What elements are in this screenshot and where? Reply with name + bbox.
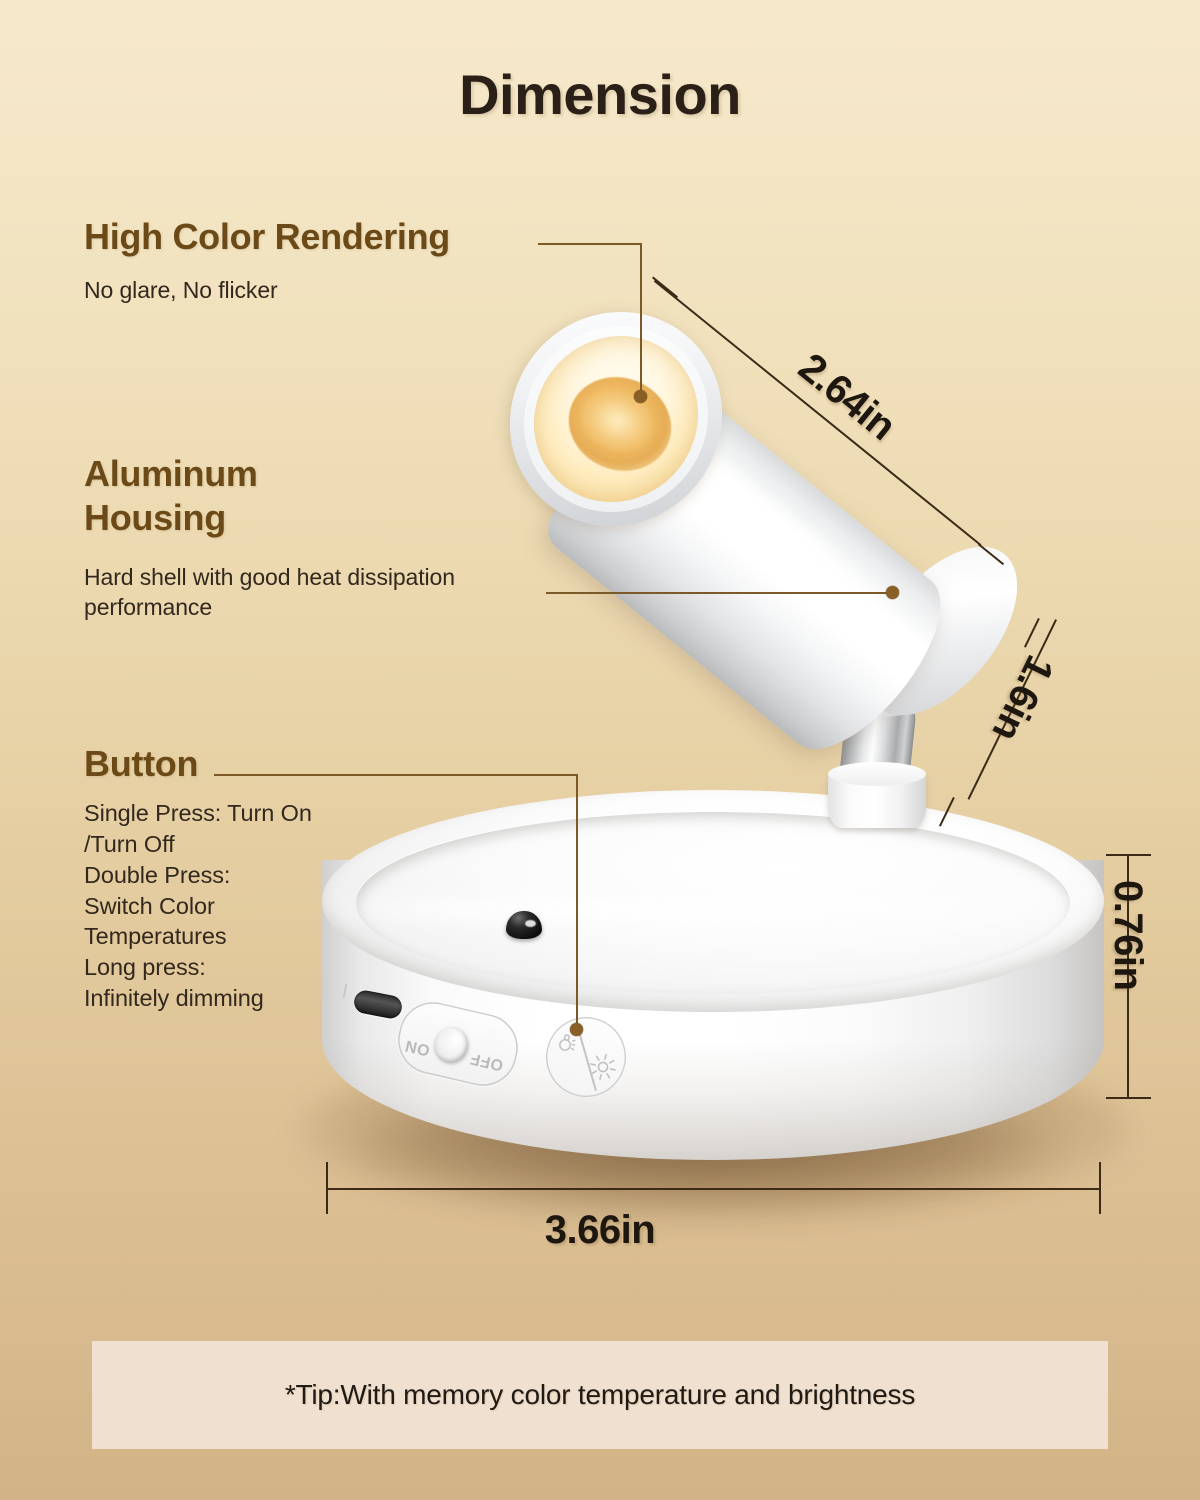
leader-line-high-color-rendering-vertical xyxy=(640,243,642,397)
brightness-sun-icon xyxy=(585,1049,621,1085)
dimension-label-base-width: 3.66in xyxy=(0,1208,1200,1253)
feature-heading-high-color-rendering: High Color Rendering xyxy=(84,215,450,259)
sensor-highlight xyxy=(525,920,536,927)
lamp-front-bezel xyxy=(467,269,766,569)
dimension-label-base-height: 0.76in xyxy=(1105,880,1150,990)
dimension-cap-base-width-right xyxy=(1099,1162,1101,1214)
dimension-cap-base-height-top xyxy=(1106,854,1151,856)
chrome-joint-cap xyxy=(840,686,916,720)
dimension-cap-base-width-left xyxy=(326,1162,328,1214)
lamp-led-module xyxy=(555,362,686,486)
dimension-cap-base-height-bottom xyxy=(1106,1097,1151,1099)
chrome-swivel-joint xyxy=(839,697,917,786)
dimension-line-base-width xyxy=(326,1188,1101,1190)
feature-aluminum-housing: Aluminum Housing Hard shell with good he… xyxy=(84,452,455,623)
stem-collar-top xyxy=(828,762,926,786)
lamp-led-hotspot xyxy=(572,380,662,461)
leader-dot-aluminum-housing xyxy=(886,586,899,599)
infographic-canvas: ON OFF xyxy=(0,0,1200,1500)
feature-line: Single Press: Turn On xyxy=(84,798,312,829)
dimension-cap-length-start xyxy=(652,276,678,298)
leader-dot-button xyxy=(570,1023,583,1036)
feature-line: /Turn Off xyxy=(84,829,312,860)
switch-off-label: OFF xyxy=(468,1048,505,1073)
lamp-base-rim-highlight xyxy=(322,898,1104,922)
feature-button: Button Single Press: Turn On /Turn Off D… xyxy=(84,742,312,1014)
dimension-label-depth: 1.6in xyxy=(983,648,1062,747)
feature-line: performance xyxy=(84,592,455,622)
power-switch-plate[interactable] xyxy=(391,995,524,1092)
lamp-base-bottom-shading xyxy=(322,1040,1104,1160)
leader-dot-high-color-rendering xyxy=(634,390,647,403)
feature-heading-aluminum-housing-line1: Aluminum xyxy=(84,452,455,496)
lamp-base-top-surface xyxy=(322,790,1104,1012)
feature-body-high-color-rendering: No glare, No flicker xyxy=(84,275,450,305)
feature-line: Double Press: xyxy=(84,860,312,891)
feature-line: No glare, No flicker xyxy=(84,275,450,305)
dimension-cap-depth-end xyxy=(939,797,955,827)
dimension-line-length xyxy=(654,280,982,546)
feature-heading-button: Button xyxy=(84,742,312,786)
dimension-cap-depth-start xyxy=(1024,618,1040,648)
leader-line-button-horizontal xyxy=(214,774,578,776)
function-button[interactable] xyxy=(538,1009,635,1106)
lamp-lens-glow xyxy=(514,312,714,524)
usb-c-port-icon xyxy=(352,989,404,1021)
base-drop-shadow xyxy=(300,1040,1130,1220)
feature-high-color-rendering: High Color Rendering No glare, No flicke… xyxy=(84,215,450,305)
tip-text: *Tip:With memory color temperature and b… xyxy=(285,1379,915,1411)
lamp-head-barrel xyxy=(538,369,967,773)
stem-collar xyxy=(828,772,926,828)
lamp-base-body xyxy=(322,860,1104,1160)
dimension-cap-length-end xyxy=(978,543,1004,565)
feature-line: Switch Color xyxy=(84,891,312,922)
lamp-lens xyxy=(500,303,731,536)
usb-port-tick xyxy=(343,984,348,998)
feature-body-button: Single Press: Turn On /Turn Off Double P… xyxy=(84,798,312,1014)
base-contact-shadow xyxy=(350,1085,1050,1205)
dimension-label-length: 2.64in xyxy=(790,345,904,449)
feature-line: Infinitely dimming xyxy=(84,983,312,1014)
feature-line: Temperatures xyxy=(84,921,312,952)
leader-line-aluminum-housing xyxy=(546,592,894,594)
switch-on-label: ON xyxy=(403,1035,431,1058)
lamp-head xyxy=(508,300,1028,720)
leader-line-high-color-rendering-horizontal xyxy=(538,243,642,245)
feature-line: Long press: xyxy=(84,952,312,983)
feature-line: Hard shell with good heat dissipation xyxy=(84,562,455,592)
leader-line-button-vertical xyxy=(576,774,578,1030)
sensor-dome-icon xyxy=(506,911,542,939)
tip-banner: *Tip:With memory color temperature and b… xyxy=(92,1341,1108,1449)
joint-shadow xyxy=(842,764,913,785)
lamp-base-top-recess xyxy=(356,812,1070,994)
page-title: Dimension xyxy=(0,62,1200,127)
feature-heading-aluminum-housing-line2: Housing xyxy=(84,496,455,540)
power-switch-knob[interactable] xyxy=(430,1024,471,1067)
feature-body-aluminum-housing: Hard shell with good heat dissipation pe… xyxy=(84,562,455,623)
lamp-front-bezel-inner xyxy=(486,289,745,550)
